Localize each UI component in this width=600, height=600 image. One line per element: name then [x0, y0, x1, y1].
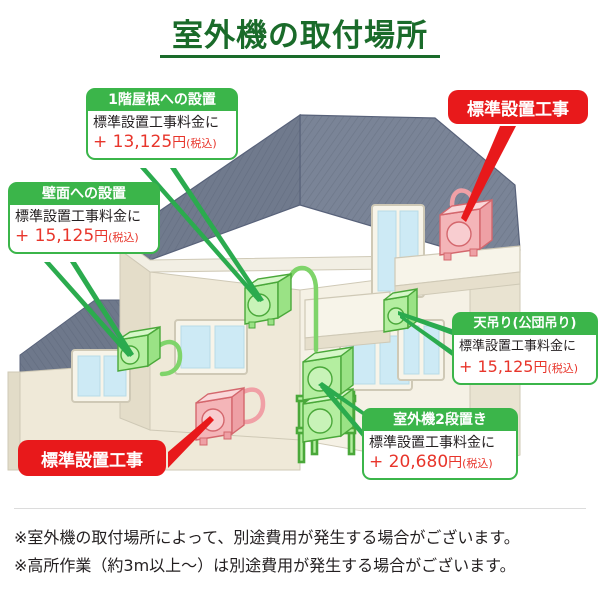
yen-label: 円: [448, 455, 462, 471]
yen-label: 円: [94, 229, 108, 245]
yen-label: 円: [533, 360, 547, 376]
callout-wall-mount-price: + 15,125円(税込): [15, 226, 153, 248]
infographic-root: 室外機の取付場所: [0, 0, 600, 600]
note-line-2: ※高所作業（約3m以上〜）は別途費用が発生する場合がございます。: [14, 552, 516, 576]
badge-standard-bottom[interactable]: 標準設置工事: [18, 440, 166, 476]
callout-wall-mount-header: 壁面への設置: [9, 183, 159, 205]
callout-roof-1f-line1: 標準設置工事料金に: [93, 114, 231, 132]
price-amount: + 13,125: [93, 132, 172, 152]
price-amount: + 15,125: [15, 226, 94, 246]
callout-two-tier-price: + 20,680円(税込): [369, 452, 511, 474]
callout-roof-1f[interactable]: 1階屋根への設置 標準設置工事料金に + 13,125円(税込): [86, 88, 238, 160]
callout-two-tier[interactable]: 室外機2段置き 標準設置工事料金に + 20,680円(税込): [362, 408, 518, 480]
callout-wall-mount-line1: 標準設置工事料金に: [15, 208, 153, 226]
tax-label: (税込): [462, 457, 493, 470]
badge-standard-top[interactable]: 標準設置工事: [448, 90, 588, 124]
callout-roof-1f-price: + 13,125円(税込): [93, 132, 231, 154]
callout-wall-mount-body: 標準設置工事料金に + 15,125円(税込): [10, 205, 158, 252]
tax-label: (税込): [547, 362, 578, 375]
tax-label: (税込): [108, 231, 139, 244]
yen-label: 円: [172, 135, 186, 151]
callout-roof-1f-body: 標準設置工事料金に + 13,125円(税込): [88, 111, 236, 158]
callout-two-tier-line1: 標準設置工事料金に: [369, 434, 511, 452]
note-line-1: ※室外機の取付場所によって、別途費用が発生する場合がございます。: [14, 524, 520, 548]
tax-label: (税込): [186, 137, 217, 150]
callout-roof-1f-header: 1階屋根への設置: [87, 89, 237, 111]
callout-two-tier-body: 標準設置工事料金に + 20,680円(税込): [364, 431, 516, 478]
callout-ceiling-hung-price: + 15,125円(税込): [459, 356, 591, 379]
callout-wall-mount[interactable]: 壁面への設置 標準設置工事料金に + 15,125円(税込): [8, 182, 160, 254]
callout-ceiling-hung-body: 標準設置工事料金に + 15,125円(税込): [454, 335, 596, 383]
price-amount: + 15,125: [459, 357, 533, 376]
callout-ceiling-hung[interactable]: 天吊り(公団吊り) 標準設置工事料金に + 15,125円(税込): [452, 312, 598, 385]
footer-divider: [14, 508, 586, 509]
callout-two-tier-header: 室外機2段置き: [363, 409, 517, 431]
price-amount: + 20,680: [369, 452, 448, 472]
callout-ceiling-hung-header: 天吊り(公団吊り): [453, 313, 597, 335]
callout-ceiling-hung-line1: 標準設置工事料金に: [459, 338, 591, 356]
